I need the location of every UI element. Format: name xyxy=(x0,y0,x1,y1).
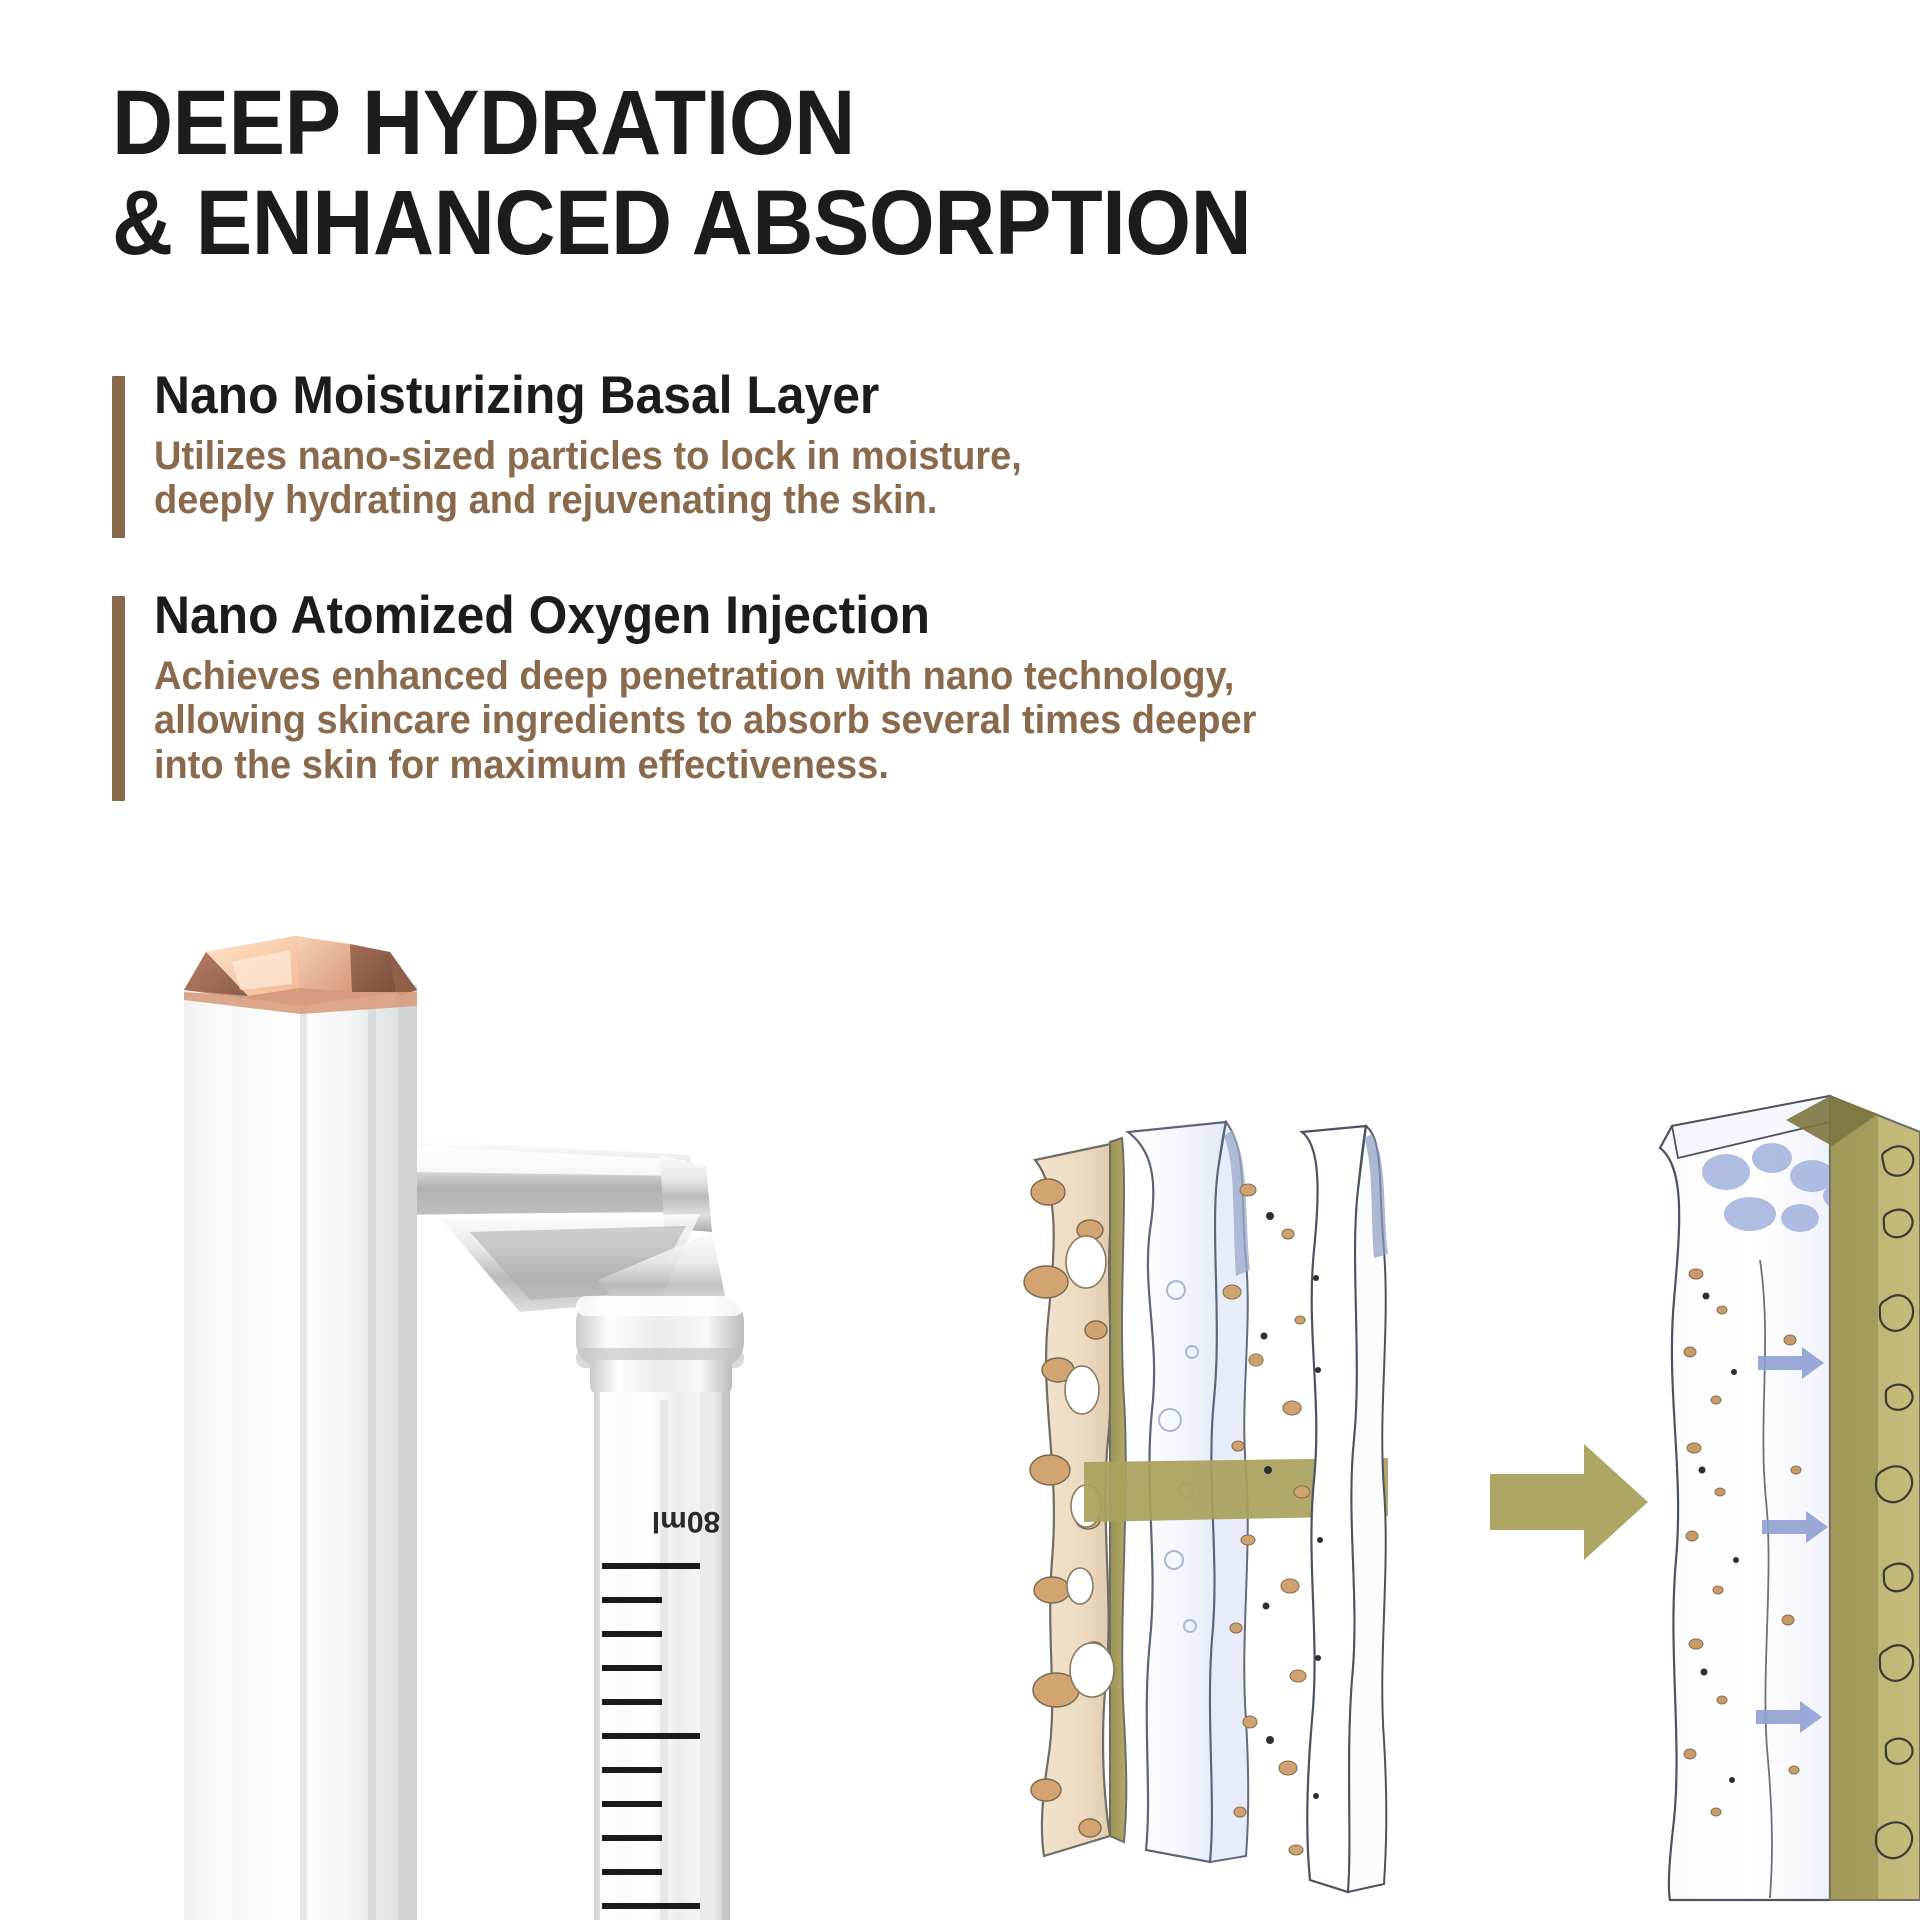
device-white-hexagonal-body xyxy=(184,985,417,1920)
feature-heading: Nano Atomized Oxygen Injection xyxy=(154,588,1245,644)
absorbed-dots xyxy=(1699,1293,1740,1784)
feature-body-line-3: into the skin for maximum effectiveness. xyxy=(154,743,1256,788)
bottle-capacity-label: 80ml xyxy=(652,1505,720,1538)
syringe-graduation-marks xyxy=(602,1566,700,1906)
penetration-arrow-1 xyxy=(1084,1458,1388,1522)
feature-body-line-2: allowing skincare ingredients to absorb … xyxy=(154,698,1256,743)
device-connector-arm xyxy=(417,1140,726,1330)
graduated-serum-syringe xyxy=(594,1392,730,1920)
page-title-line-2: & ENHANCED ABSORPTION xyxy=(112,178,1492,268)
micro-flow-arrows xyxy=(1756,1347,1828,1733)
feature-accent-bar xyxy=(112,376,125,538)
page-title: DEEP HYDRATION & ENHANCED ABSORPTION xyxy=(112,78,1612,268)
moisture-droplets xyxy=(1159,1281,1198,1632)
page-title-line-1: DEEP HYDRATION xyxy=(112,78,1492,168)
dermis-cell-outlines xyxy=(1876,1146,1913,1858)
diagram-panel-surface-skin-layer xyxy=(1024,1138,1126,1856)
rose-gold-faceted-tip-icon xyxy=(184,936,417,1014)
feature-accent-bar xyxy=(112,596,125,801)
oxygen-bubble-cluster xyxy=(1702,1143,1857,1232)
product-and-diagram-artwork: 80ml xyxy=(0,0,1920,1920)
feature-block-nano-moisturizing-basal-layer: Nano Moisturizing Basal Layer Utilizes n… xyxy=(112,368,1068,523)
feature-body-line-1: Utilizes nano-sized particles to lock in… xyxy=(154,434,1022,479)
diagram-panel-deep-dermis-block xyxy=(1660,1096,1920,1900)
skin-layer-penetration-diagram xyxy=(1024,1096,1920,1900)
nano-particles-dots xyxy=(1261,1212,1324,1799)
product-device-illustration xyxy=(184,936,744,1920)
open-pore-cluster xyxy=(1065,1236,1114,1697)
diagram-panel-hydrating-film-layer xyxy=(1128,1122,1250,1862)
feature-body-line-1: Achieves enhanced deep penetration with … xyxy=(154,654,1256,699)
diagram-panel-nano-particle-dispersion xyxy=(1223,1126,1388,1892)
pore-cluster xyxy=(1024,1179,1107,1837)
feature-heading: Nano Moisturizing Basal Layer xyxy=(154,368,1013,424)
feature-block-nano-atomized-oxygen-injection: Nano Atomized Oxygen Injection Achieves … xyxy=(112,588,1314,788)
nano-particles-scatter xyxy=(1223,1184,1310,1855)
feature-body-line-2: deeply hydrating and rejuvenating the sk… xyxy=(154,478,1022,523)
penetration-arrow-2 xyxy=(1490,1444,1648,1560)
absorbed-particles xyxy=(1684,1269,1801,1816)
device-bottle-collar xyxy=(576,1296,744,1394)
